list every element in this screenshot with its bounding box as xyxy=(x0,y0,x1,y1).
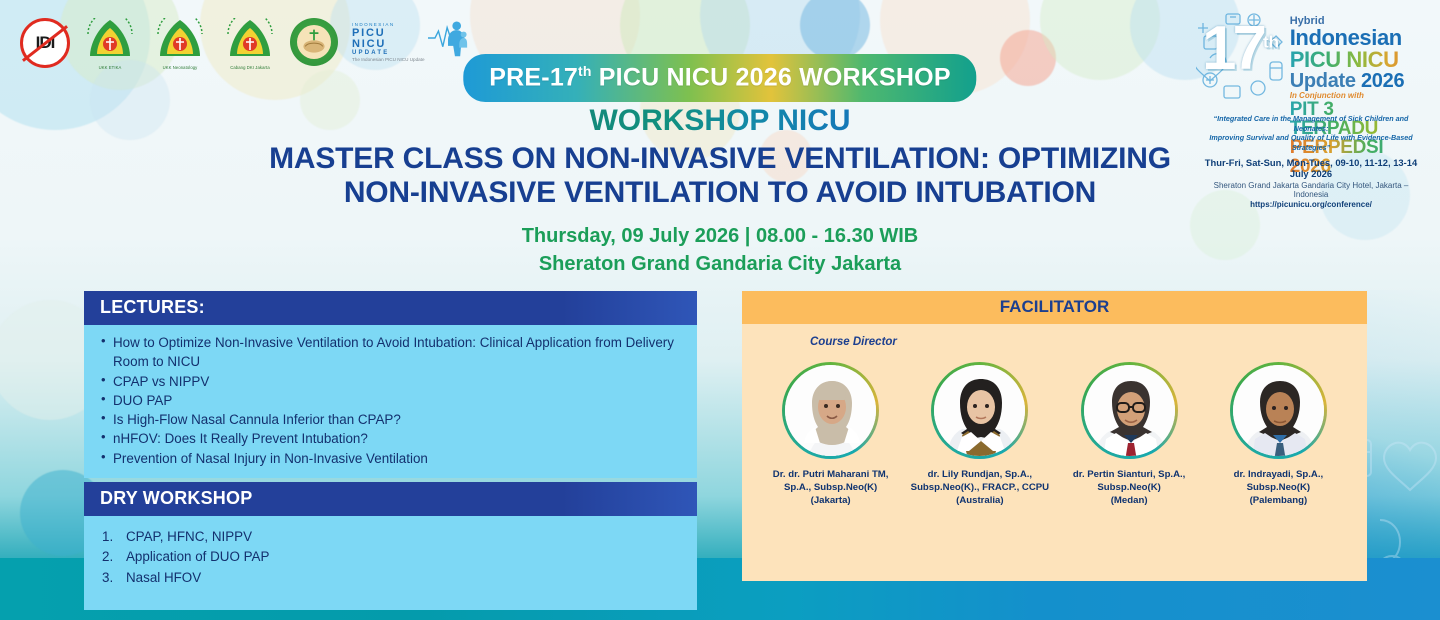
perinasia-baby-icon xyxy=(297,25,331,59)
facilitator-heading: FACILITATOR xyxy=(742,291,1367,324)
person-name-line1: dr. Pertin Sianturi, Sp.A., xyxy=(1059,468,1199,481)
idai-leaf-icon xyxy=(84,18,136,64)
pill-sup: th xyxy=(578,63,592,79)
logo-caption: UKK Neonatology xyxy=(163,65,198,70)
picu-nurse-child-icon xyxy=(428,18,468,63)
avatar xyxy=(1230,362,1327,459)
anniversary-number-suffix: th xyxy=(1263,32,1279,51)
person-name: Dr. dr. Putri Maharani TM, Sp.A., Subsp.… xyxy=(761,468,901,508)
logo-idi: IDI xyxy=(20,18,70,68)
person-name-line1: dr. Indrayadi, Sp.A., xyxy=(1208,468,1348,481)
avatar-photo-indrayadi xyxy=(1233,365,1324,456)
person-name: dr. Lily Rundjan, Sp.A., Subsp.Neo(K)., … xyxy=(910,468,1050,508)
idai-leaf-icon xyxy=(154,18,206,64)
person-city: (Medan) xyxy=(1059,494,1199,507)
person-name-line2: Sp.A., Subsp.Neo(K) xyxy=(761,481,901,494)
facilitator-body: Course Director xyxy=(742,324,1367,581)
picu-logo-line3: UPDATE xyxy=(352,50,425,56)
avatar xyxy=(1081,362,1178,459)
event-update-year: Update 2026 xyxy=(1290,71,1426,91)
list-item: Prevention of Nasal Injury in Non-Invasi… xyxy=(100,449,683,468)
facilitator-panel: FACILITATOR Course Director xyxy=(742,291,1367,581)
event-date: Thursday, 09 July 2026 | 08.00 - 16.30 W… xyxy=(0,222,1440,250)
logo-picu-nicu-update: INDONESIAN PICU NICU UPDATE The Indonesi… xyxy=(352,18,468,63)
person-name: dr. Pertin Sianturi, Sp.A., Subsp.Neo(K)… xyxy=(1059,468,1199,508)
event-datetime-venue: Thursday, 09 July 2026 | 08.00 - 16.30 W… xyxy=(0,222,1440,279)
pill-rest: PICU NICU 2026 WORKSHOP xyxy=(592,63,951,91)
list-item: Dr. dr. Putri Maharani TM, Sp.A., Subsp.… xyxy=(761,362,901,508)
partner-logos: IDI UKK ETIKA UKK Neonatology xyxy=(20,18,468,70)
dry-workshop-heading: DRY WORKSHOP xyxy=(84,482,697,516)
person-name-line1: dr. Lily Rundjan, Sp.A., xyxy=(910,468,1050,481)
person-city: (Palembang) xyxy=(1208,494,1348,507)
list-item: DUO PAP xyxy=(100,391,683,410)
list-item: CPAP vs NIPPV xyxy=(100,372,683,391)
picu-logo-tagline: The Indonesian PICU NICU Update xyxy=(352,58,425,63)
event-logo-block: 17th Hybrid Indonesian PICU NICU Update … xyxy=(1196,10,1426,209)
avatar xyxy=(782,362,879,459)
event-picu-nicu: PICU NICU xyxy=(1290,49,1426,71)
event-indonesian: Indonesian xyxy=(1290,27,1426,49)
avatar-photo-pertin xyxy=(1084,365,1175,456)
list-item: Is High-Flow Nasal Cannula Inferior than… xyxy=(100,410,683,429)
lectures-heading: LECTURES: xyxy=(84,291,697,325)
list-item: nHFOV: Does It Really Prevent Intubation… xyxy=(100,429,683,448)
picu-logo-line2: NICU xyxy=(352,39,425,50)
list-item: How to Optimize Non-Invasive Ventilation… xyxy=(100,333,683,372)
list-item: dr. Pertin Sianturi, Sp.A., Subsp.Neo(K)… xyxy=(1059,362,1199,508)
logo-idai-ukk-etika: UKK ETIKA xyxy=(80,18,140,70)
event-venue: Sheraton Grand Gandaria City Jakarta xyxy=(0,250,1440,278)
event-update: Update xyxy=(1290,70,1356,92)
dry-workshop-list: CPAP, HFNC, NIPPV Application of DUO PAP… xyxy=(100,527,683,588)
avatar-photo-putri xyxy=(785,365,876,456)
event-website-url[interactable]: https://picunicu.org/conference/ xyxy=(1196,200,1426,209)
lectures-list: How to Optimize Non-Invasive Ventilation… xyxy=(100,333,683,468)
logo-idai-ukk-neonatology: UKK Neonatology xyxy=(150,18,210,70)
event-congress-venue: Sheraton Grand Jakarta Gandaria City Hot… xyxy=(1196,181,1426,199)
list-item: CPAP, HFNC, NIPPV xyxy=(100,527,683,547)
person-name: dr. Indrayadi, Sp.A., Subsp.Neo(K) (Pale… xyxy=(1208,468,1348,508)
anniversary-number-value: 17 xyxy=(1202,14,1263,83)
person-city: (Australia) xyxy=(910,494,1050,507)
logo-perinasia xyxy=(290,18,338,66)
logo-caption: Cabang DKI Jakarta xyxy=(230,65,270,70)
list-item: dr. Indrayadi, Sp.A., Subsp.Neo(K) (Pale… xyxy=(1208,362,1348,508)
idai-leaf-icon xyxy=(224,18,276,64)
pre-workshop-pill: PRE-17th PICU NICU 2026 WORKSHOP xyxy=(463,54,976,102)
lectures-body: How to Optimize Non-Invasive Ventilation… xyxy=(84,325,697,478)
person-name-line1: Dr. dr. Putri Maharani TM, xyxy=(761,468,901,481)
person-name-line2: Subsp.Neo(K) xyxy=(1059,481,1199,494)
avatar xyxy=(931,362,1028,459)
anniversary-17-badge: 17th xyxy=(1196,10,1286,102)
event-year: 2026 xyxy=(1361,70,1404,92)
avatar-photo-lily xyxy=(934,365,1025,456)
pill-text: PRE-17 xyxy=(489,63,578,91)
logo-idai-cabang-dki: Cabang DKI Jakarta xyxy=(220,18,280,70)
dry-workshop-body: CPAP, HFNC, NIPPV Application of DUO PAP… xyxy=(84,516,697,610)
facilitator-people: Dr. dr. Putri Maharani TM, Sp.A., Subsp.… xyxy=(756,362,1353,508)
lectures-panel: LECTURES: How to Optimize Non-Invasive V… xyxy=(84,291,697,610)
person-name-line2: Subsp.Neo(K)., FRACP., CCPU xyxy=(910,481,1050,494)
list-item: Application of DUO PAP xyxy=(100,547,683,567)
course-director-label: Course Director xyxy=(810,336,1353,348)
logo-caption: UKK ETIKA xyxy=(99,65,122,70)
anniversary-number: 17th xyxy=(1202,18,1279,80)
list-item: Nasal HFOV xyxy=(100,568,683,588)
person-city: (Jakarta) xyxy=(761,494,901,507)
workshop-nicu-heading: WORKSHOP NICU xyxy=(589,104,850,138)
list-item: dr. Lily Rundjan, Sp.A., Subsp.Neo(K)., … xyxy=(910,362,1050,508)
person-name-line2: Subsp.Neo(K) xyxy=(1208,481,1348,494)
